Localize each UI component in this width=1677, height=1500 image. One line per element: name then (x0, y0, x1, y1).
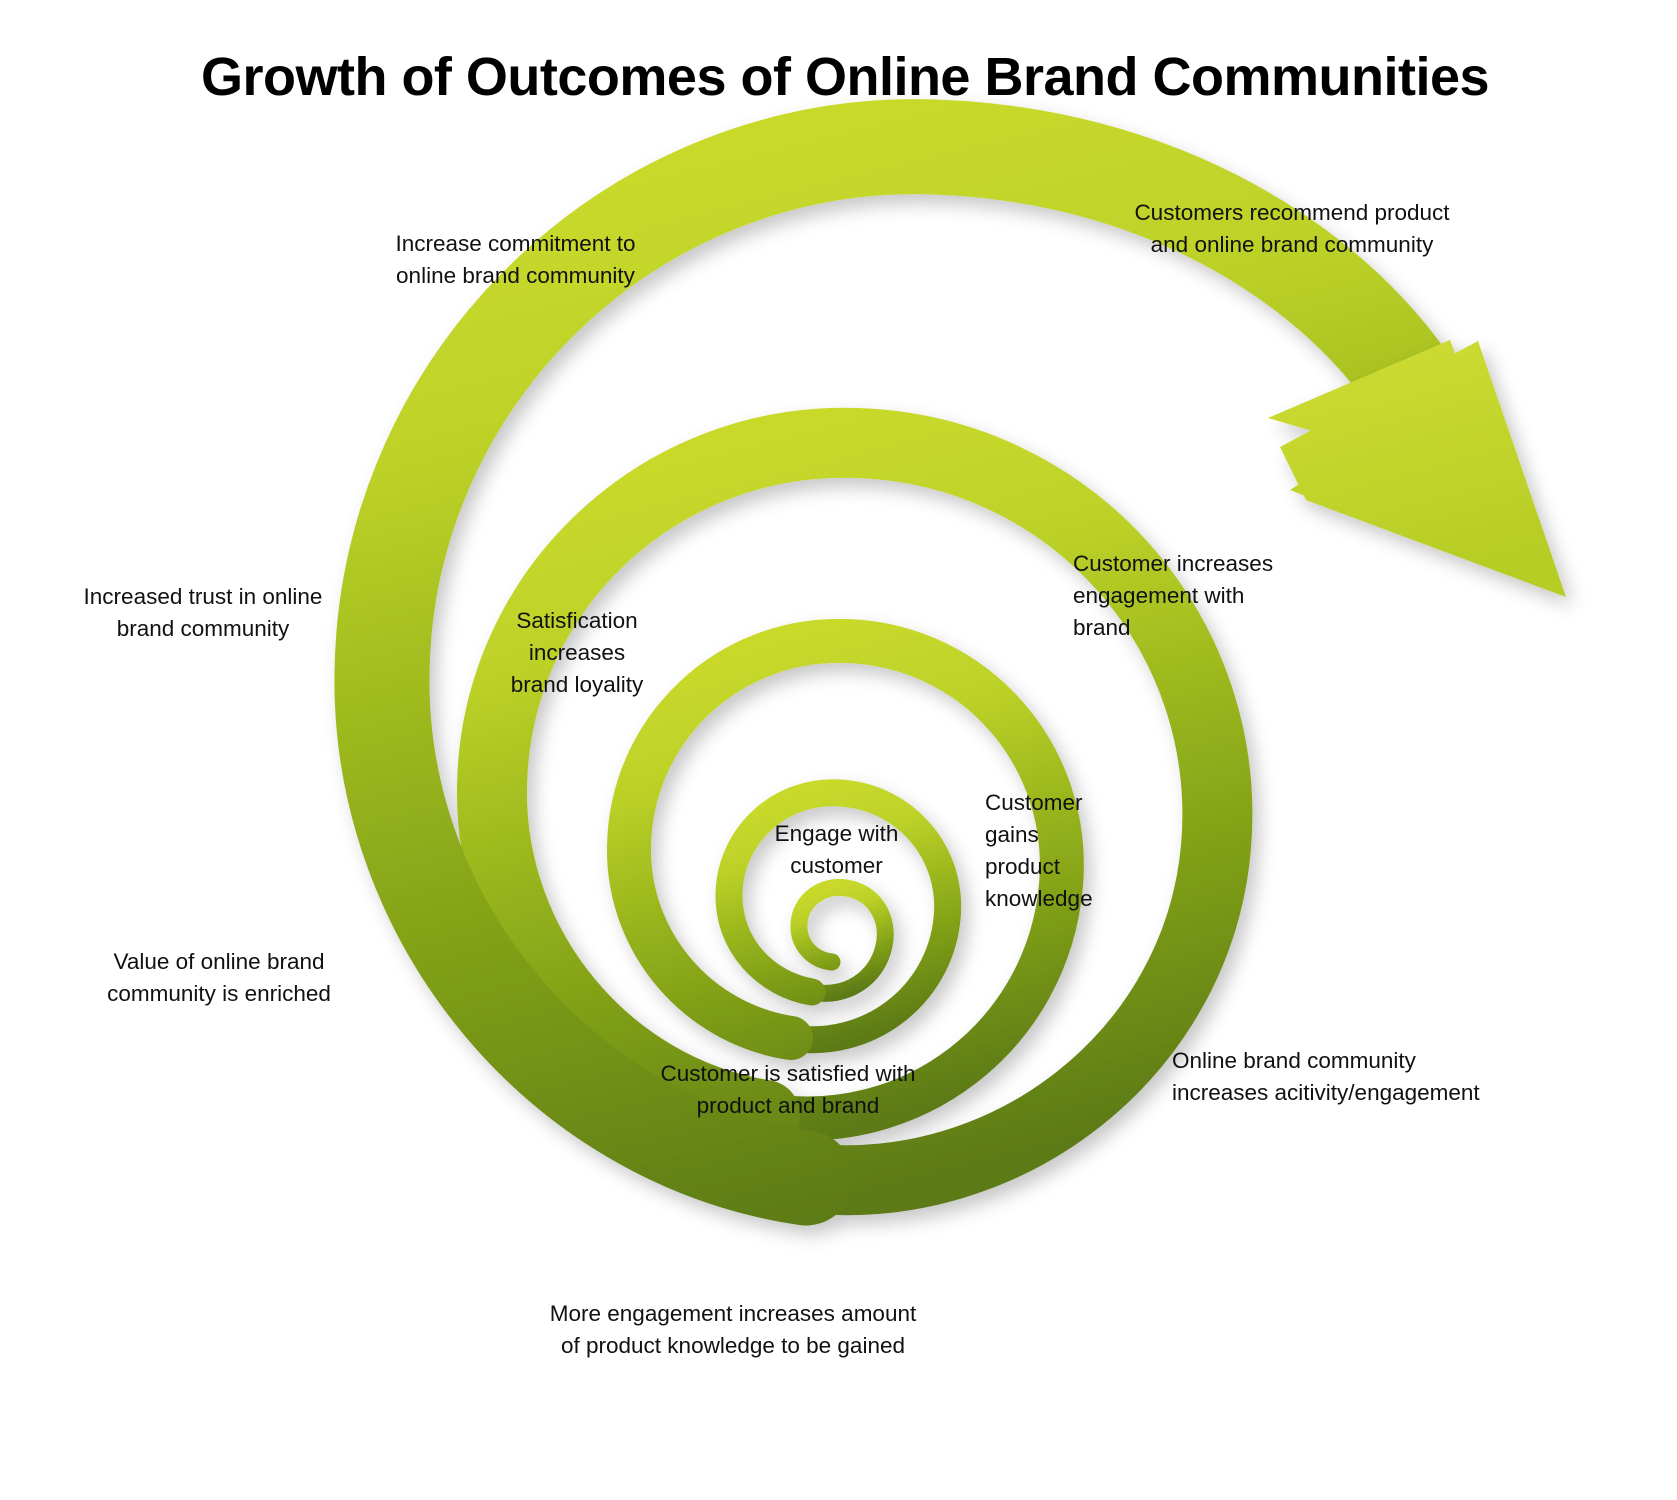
label-increase-commitment: Increase commitment to online brand comm… (383, 228, 648, 292)
label-customers-recommend: Customers recommend product and online b… (1122, 197, 1462, 261)
label-customer-gains-product-knowledge: Customer gains product knowledge (985, 787, 1100, 915)
arrowhead (1268, 340, 1566, 597)
label-more-engagement: More engagement increases amount of prod… (528, 1298, 938, 1362)
label-online-brand-activity: Online brand community increases acitivi… (1172, 1045, 1482, 1109)
label-increased-trust: Increased trust in online brand communit… (78, 581, 328, 645)
label-value-enriched: Value of online brand community is enric… (104, 946, 334, 1010)
label-customer-increases-engagement: Customer increases engagement with brand (1073, 548, 1303, 644)
label-engage-with-customer: Engage with customer (769, 818, 904, 882)
diagram-canvas: Growth of Outcomes of Online Brand Commu… (0, 0, 1677, 1500)
label-satisfication-loyality: Satisfication increases brand loyality (508, 605, 646, 701)
label-customer-satisfied: Customer is satisfied with product and b… (653, 1058, 923, 1122)
spiral-core-turn (799, 887, 885, 993)
